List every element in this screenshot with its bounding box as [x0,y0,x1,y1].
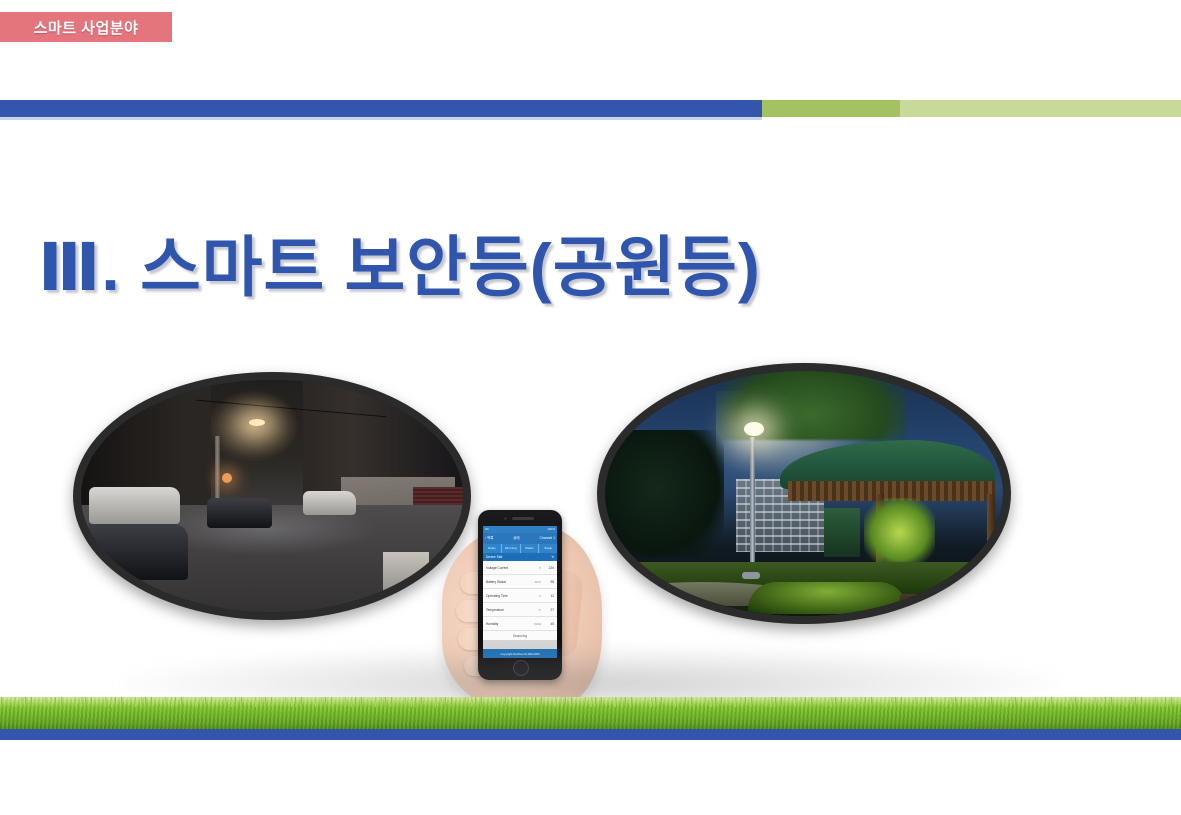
nav-back-button[interactable]: ‹ 목록 [485,533,493,544]
alley-streetlight-icon [249,419,265,426]
nav-channel-button[interactable]: Channel 1 [540,533,555,544]
row-unit: SOC [527,580,541,584]
status-battery: 100% [547,526,555,533]
alley-wall [383,552,429,598]
device-status-section-header: Device Stat ↻ [483,553,557,561]
row-label: Humidity [486,622,527,626]
header-bar [0,100,1181,117]
front-camera-icon [504,517,507,520]
park-bench [900,594,964,614]
section-title: Device Stat [486,553,502,561]
app-nav-bar: ‹ 목록 상태 Channel 1 [483,533,557,544]
row-label: Temperature [486,608,527,612]
tab-setup[interactable]: Setup [539,544,557,553]
footer-blue-bar [0,729,1181,740]
app-tab-bar[interactable]: Relay Dimming Status Setup [483,544,557,553]
row-value: 220 [541,566,554,570]
row-value: 12 [541,594,554,598]
photo-oval-park-night [597,363,1011,624]
alley-distant-light-icon [222,473,232,483]
alley-scene [81,380,463,612]
row-label: Voltage Current [486,566,527,570]
phone-screen[interactable]: SK 100% ‹ 목록 상태 Channel 1 Relay Dimming … [483,526,557,658]
searching-label: Searching [513,634,527,638]
header-olive-segment [762,100,900,117]
grass-strip [0,697,1181,730]
photo-alley-inner [81,380,463,612]
alley-car-white-1 [89,487,181,524]
row-unit: °C [527,608,541,612]
tab-relay[interactable]: Relay [483,544,502,553]
category-tab-label: 스마트 사업분야 [34,17,139,38]
list-item[interactable]: Humidity %RH 45 [483,617,557,631]
header-underline [0,117,762,120]
grass-blades [0,697,1181,707]
list-item[interactable]: Operating Time h 12 [483,589,557,603]
row-label: Battery Status [486,580,527,584]
list-item[interactable]: Temperature °C 27 [483,603,557,617]
header-light-green-segment [900,100,1181,117]
alley-car-white-2 [303,491,356,514]
park-utility-box [824,508,860,557]
park-tree-left [605,430,724,557]
row-label: Operating Time [486,594,527,598]
row-value: 27 [541,608,554,612]
searching-status: Searching [483,631,557,640]
row-value: 45 [541,622,554,626]
phone-status-bar: SK 100% [483,526,557,533]
page-title: Ⅲ. 스마트 보안등(공원등) [38,214,761,310]
device-status-list: Voltage Current V 220 Battery Status SOC… [483,561,557,631]
category-tab[interactable]: 스마트 사업분야 [0,12,172,42]
tab-dimming[interactable]: Dimming [502,544,521,553]
alley-car-dark-1 [81,524,188,580]
park-hedge [748,582,907,614]
status-carrier: SK [485,526,489,533]
tab-status[interactable]: Status [521,544,540,553]
row-value: 98 [541,580,554,584]
row-unit: h [527,594,541,598]
row-unit: V [527,566,541,570]
park-scene [605,371,1003,616]
alley-car-dark-2 [207,498,272,528]
park-lit-tree [864,498,936,567]
row-unit: %RH [527,622,541,626]
slide-canvas: 스마트 사업분야 Ⅲ. 스마트 보안등(공원등) [0,0,1181,815]
list-item[interactable]: Voltage Current V 220 [483,561,557,575]
park-lamp-pole [750,437,755,579]
earpiece-speaker [512,517,534,520]
header-blue-segment [0,100,762,117]
park-lamp-base [742,572,760,579]
nav-title: 상태 [513,533,519,544]
photo-oval-alley-night [73,372,471,620]
photo-park-inner [605,371,1003,616]
refresh-icon[interactable]: ↻ [551,553,554,561]
list-item[interactable]: Battery Status SOC 98 [483,575,557,589]
